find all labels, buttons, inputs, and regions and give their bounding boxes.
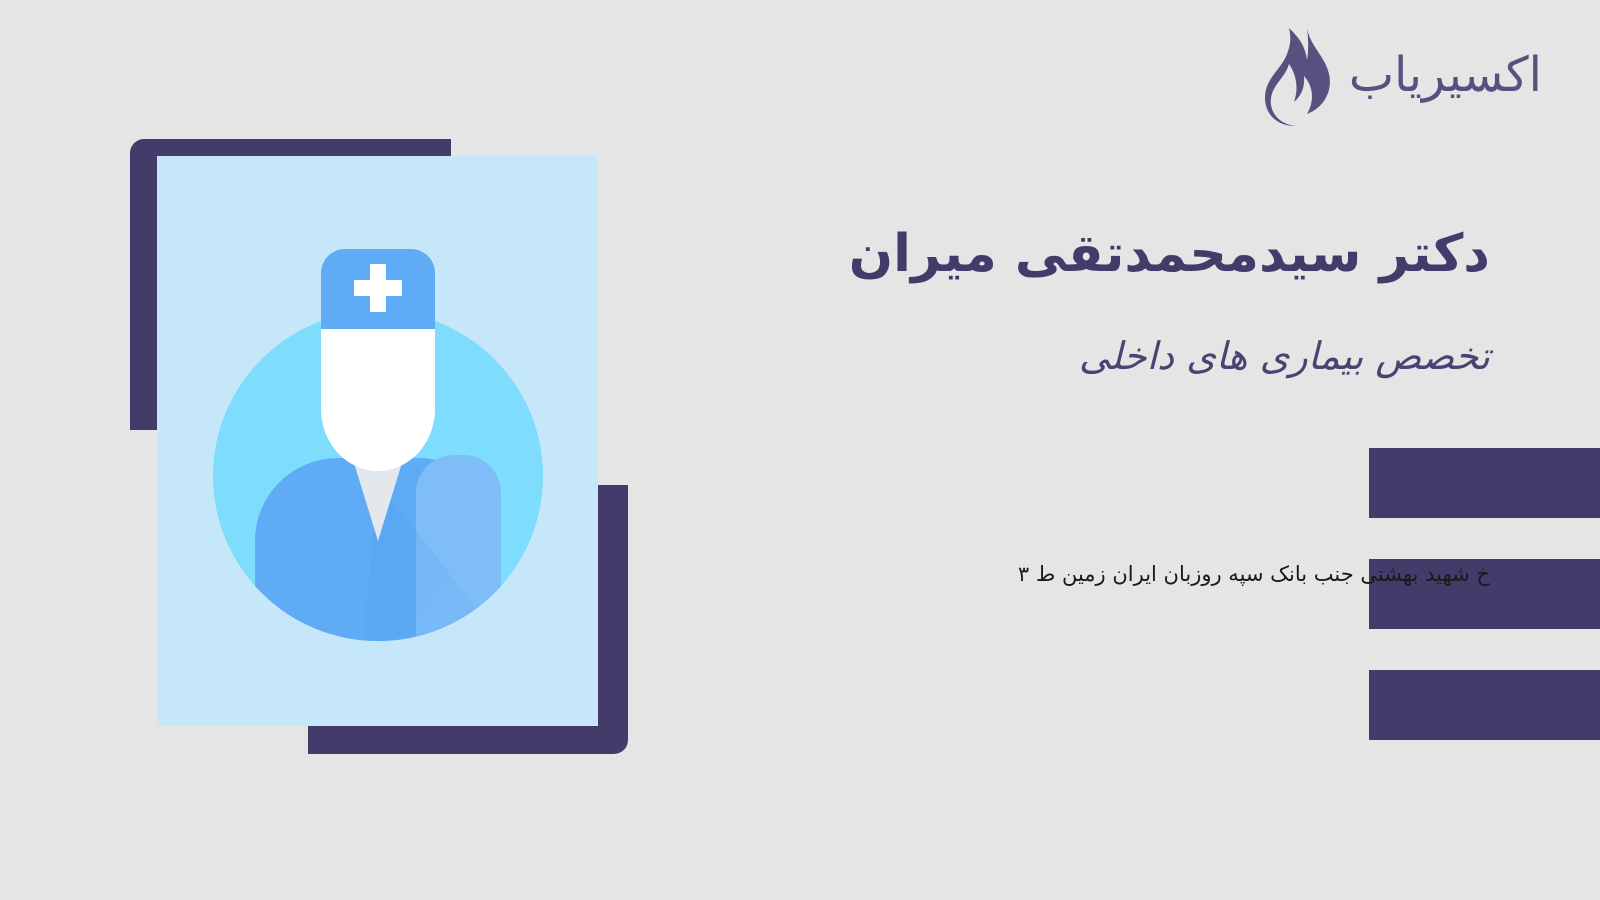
avatar: [157, 156, 598, 726]
doctor-head: [321, 329, 435, 471]
doctor-illustration: [0, 0, 700, 900]
doctor-specialty: تخصص بیماری های داخلی: [1079, 330, 1490, 383]
doctor-info: دکتر سیدمحمدتقی میران تخصص بیماری های دا…: [640, 0, 1530, 900]
doctor-profile-banner: اکسیریاب دکتر سیدمحمدتقی میران تخصص بیما…: [0, 0, 1600, 900]
doctor-name: دکتر سیدمحمدتقی میران: [849, 222, 1490, 287]
avatar-card: [157, 156, 598, 726]
doctor-body-group: [255, 453, 501, 641]
doctor-address: خ شهید بهشتی جنب بانک سپه روزبان ایران ز…: [1018, 562, 1490, 586]
doctor-avatar-icon: [213, 241, 543, 641]
